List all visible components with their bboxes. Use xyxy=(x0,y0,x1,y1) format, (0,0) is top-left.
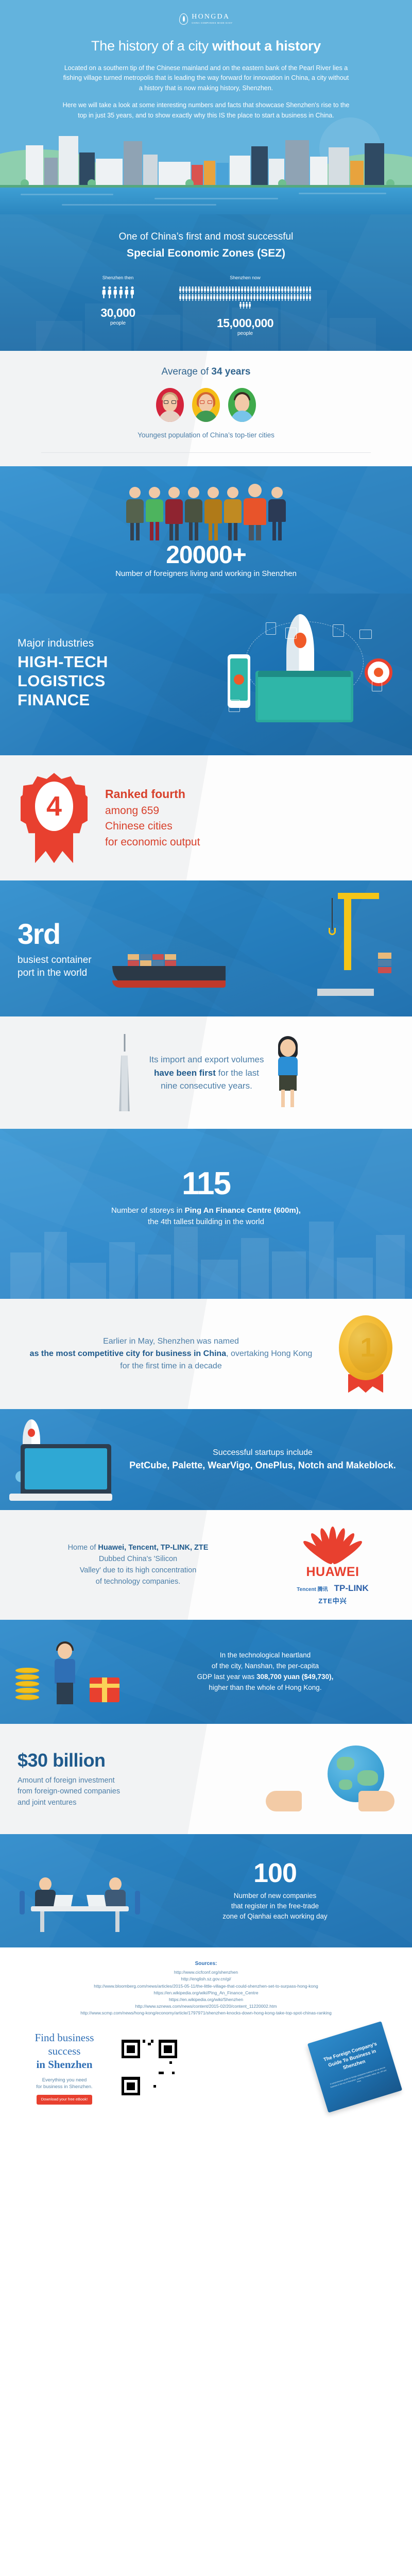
avatar xyxy=(156,388,184,422)
person-icon xyxy=(232,294,234,301)
competitive-text: Earlier in May, Shenzhen was named as th… xyxy=(18,1335,324,1372)
trade-section: Its import and export volumes have been … xyxy=(0,1016,412,1129)
person-icon xyxy=(232,286,234,294)
tech-bold: Huawei, Tencent, TP-LINK, ZTE xyxy=(98,1544,208,1552)
person-icon xyxy=(256,286,259,294)
person-icon xyxy=(235,286,237,294)
companies-caption-1: Number of new companies xyxy=(153,1891,397,1901)
title-bold: without a history xyxy=(212,38,321,54)
person-icon xyxy=(219,294,222,301)
investment-caption-3: and joint ventures xyxy=(18,1798,252,1809)
person-icon xyxy=(192,286,194,294)
sez-heading-light: One of China’s first and most successful xyxy=(119,231,294,242)
rank-line-1: Ranked fourth xyxy=(105,786,200,803)
person-icon xyxy=(303,294,305,301)
storeys-caption-post: the 4th tallest building in the world xyxy=(148,1217,264,1226)
person-icon xyxy=(210,286,213,294)
ebook-cover-image: The Foreign Company's Guide To Business … xyxy=(185,2029,397,2106)
person-figure xyxy=(243,484,267,540)
gift-box-icon xyxy=(90,1677,119,1702)
hongda-logo: HONGDA CHINA COMPANIES MADE EASY xyxy=(0,13,412,25)
gdp-line-1: In the technological heartland xyxy=(220,1651,311,1659)
container xyxy=(165,960,176,966)
person-icon xyxy=(243,302,245,309)
competitive-section: Earlier in May, Shenzhen was named as th… xyxy=(0,1299,412,1409)
person-figure xyxy=(145,487,164,540)
person-figure xyxy=(204,487,222,540)
industry-item-0: HIGH-TECH xyxy=(18,653,108,672)
person-icon xyxy=(309,294,312,301)
person-icon xyxy=(222,294,225,301)
cta-sub-2: for business in Shenzhen. xyxy=(15,2083,113,2091)
person-icon xyxy=(272,294,274,301)
rank-badge-number: 4 xyxy=(46,792,62,820)
port-illustration xyxy=(92,898,394,1001)
competitive-bold: as the most competitive city for busines… xyxy=(30,1349,226,1358)
person-icon xyxy=(216,294,219,301)
person-icon xyxy=(226,286,228,294)
person-icon xyxy=(246,302,248,309)
storeys-caption: Number of storeys in Ping An Finance Cen… xyxy=(0,1205,412,1228)
industry-item-1: LOGISTICS xyxy=(18,672,108,691)
person-icon xyxy=(182,294,185,301)
person-icon xyxy=(179,294,182,301)
source-url[interactable]: http://english.sz.gov.cn/gi/ xyxy=(6,1976,406,1982)
tencent-logo: Tencent 腾讯 xyxy=(297,1585,328,1592)
person-icon xyxy=(244,286,247,294)
companies-text: 100 Number of new companies that registe… xyxy=(153,1860,397,1922)
companies-caption-3: zone of Qianhai each working day xyxy=(153,1911,397,1922)
gdp-text: In the technological heartland of the ci… xyxy=(134,1650,397,1693)
person-icon xyxy=(118,286,123,299)
tech-pre: Home of xyxy=(68,1544,98,1552)
person-icon xyxy=(284,294,287,301)
section-divider xyxy=(41,452,371,453)
tech-illustration xyxy=(225,609,394,738)
person-icon xyxy=(249,302,251,309)
person-icon xyxy=(207,294,210,301)
person-icon xyxy=(294,286,296,294)
person-icon xyxy=(250,286,253,294)
tech-companies-text: Home of Huawei, Tencent, TP-LINK, ZTE Du… xyxy=(18,1543,259,1587)
sez-heading-bold: Special Economic Zones (SEZ) xyxy=(0,246,412,261)
floppy-icon xyxy=(285,628,297,639)
person-icon xyxy=(101,286,106,299)
investment-caption-1: Amount of foreign investment xyxy=(18,1775,252,1787)
person-figure xyxy=(268,487,286,540)
qr-code[interactable] xyxy=(122,2040,177,2095)
container xyxy=(378,960,391,966)
crane-cable xyxy=(332,898,333,930)
person-icon xyxy=(222,286,225,294)
zte-logo: ZTE中兴 xyxy=(271,1596,394,1605)
person-icon xyxy=(229,286,231,294)
hero-paragraph-2: Here we will take a look at some interes… xyxy=(62,100,350,121)
chair-icon xyxy=(135,1891,140,1914)
person-icon xyxy=(241,294,244,301)
people-icons-now xyxy=(178,286,313,309)
container xyxy=(165,954,176,960)
competitive-line-2: , overtaking Hong Kong xyxy=(226,1349,312,1358)
person-icon xyxy=(290,294,293,301)
medal-number: 1 xyxy=(360,1334,375,1361)
container xyxy=(378,967,391,973)
source-url[interactable]: http://www.sznews.com/news/content/2015-… xyxy=(6,2003,406,2010)
avatar xyxy=(192,388,220,422)
cta-text: Find business success in Shenzhen Everyt… xyxy=(15,2031,113,2105)
rosette-badge-icon: 4 xyxy=(21,773,88,863)
person-icon xyxy=(201,294,203,301)
foreigners-section: 20000+ Number of foreigners living and w… xyxy=(0,466,412,594)
person-icon xyxy=(287,286,290,294)
person-icon xyxy=(247,286,250,294)
lightbulb-icon xyxy=(266,622,276,635)
trade-line-1: Its import and export volumes xyxy=(149,1055,264,1064)
foreigners-caption: Number of foreigners living and working … xyxy=(0,569,412,578)
document-icon xyxy=(229,700,240,712)
startups-intro: Successful startups include xyxy=(129,1448,397,1458)
investment-value: $30 billion xyxy=(18,1750,252,1771)
avatar xyxy=(228,388,256,422)
tech-line-3: Valley' due to its high concentration xyxy=(80,1566,197,1574)
hero-section: HONGDA CHINA COMPANIES MADE EASY The his… xyxy=(0,0,412,214)
gdp-line-4: higher than the whole of Hong Kong. xyxy=(209,1684,321,1691)
competitive-line-3: for the first time in a decade xyxy=(120,1362,221,1370)
person-icon xyxy=(297,294,299,301)
person-icon xyxy=(201,286,203,294)
meeting-illustration xyxy=(15,1850,144,1932)
person-icon xyxy=(306,286,308,294)
container xyxy=(140,960,151,966)
title-light: The history of a city xyxy=(91,38,212,54)
person-icon xyxy=(303,286,305,294)
person-icon xyxy=(219,286,222,294)
person-icon xyxy=(192,294,194,301)
person-icon xyxy=(188,294,191,301)
source-url[interactable]: http://www.cicfconf.org/shenzhen xyxy=(6,1969,406,1976)
crane-arm xyxy=(338,893,379,899)
gdp-line-3-bold: 308,700 yuan ($49,730), xyxy=(256,1673,333,1681)
container xyxy=(128,954,139,960)
age-heading-bold: 34 years xyxy=(211,366,250,377)
flame-logo-icon xyxy=(179,13,188,25)
port-section: 3rd busiest container port in the world xyxy=(0,880,412,1016)
person-icon xyxy=(204,294,207,301)
tplink-logo: TP-LINK xyxy=(334,1583,369,1594)
person-icon xyxy=(213,294,216,301)
people-icons-then xyxy=(99,286,136,299)
huawei-flower-logo-icon xyxy=(299,1524,366,1563)
person-icon xyxy=(260,294,262,301)
person-icon xyxy=(216,286,219,294)
person-icon xyxy=(281,294,284,301)
sez-then-unit: people xyxy=(99,320,136,326)
crane-base xyxy=(317,989,374,996)
person-icon xyxy=(306,294,308,301)
sez-now-unit: people xyxy=(178,331,313,336)
person-icon xyxy=(297,286,299,294)
tech-companies-section: Home of Huawei, Tencent, TP-LINK, ZTE Du… xyxy=(0,1510,412,1620)
chat-icon xyxy=(359,630,372,639)
coin-stack-icon xyxy=(15,1668,39,1701)
person-icon xyxy=(260,286,262,294)
cta-section: Find business success in Shenzhen Everyt… xyxy=(0,2021,412,2124)
container xyxy=(378,953,391,959)
person-icon xyxy=(241,286,244,294)
person-icon xyxy=(275,294,278,301)
competitive-line-1: Earlier in May, Shenzhen was named xyxy=(103,1337,239,1346)
logo-tagline: CHINA COMPANIES MADE EASY xyxy=(192,22,232,24)
laptop-icon xyxy=(255,671,353,722)
average-age-section: Average of 34 years Youngest population xyxy=(0,351,412,466)
laptop-icon xyxy=(87,1895,106,1906)
person-icon xyxy=(300,294,302,301)
gdp-line-3-pre: GDP last year was xyxy=(197,1673,256,1681)
hero-paragraph-1: Located on a southern tip of the Chinese… xyxy=(62,63,350,93)
sez-then-label: Shenzhen then xyxy=(99,275,136,280)
desk-icon xyxy=(31,1906,129,1911)
person-icon xyxy=(130,286,134,299)
sez-now-label: Shenzhen now xyxy=(178,275,313,280)
person-icon xyxy=(238,294,241,301)
sez-now-column: Shenzhen now 15,000,000 people xyxy=(178,275,313,336)
person-icon xyxy=(198,286,200,294)
gdp-illustration xyxy=(15,1633,124,1710)
cta-line-2: success xyxy=(15,2044,113,2058)
startup-illustration xyxy=(15,1423,118,1496)
container xyxy=(140,954,151,960)
person-icon xyxy=(263,286,265,294)
person-icon xyxy=(284,286,287,294)
person-icon xyxy=(113,286,117,299)
globe-hands-illustration xyxy=(266,1740,394,1818)
person-icon xyxy=(263,294,265,301)
companies-caption-2: that register in the free-trade xyxy=(153,1901,397,1911)
storeys-caption-bold: Ping An Finance Centre (600m), xyxy=(185,1206,301,1215)
person-icon xyxy=(253,286,256,294)
industries-section: Major industries HIGH-TECH LOGISTICS FIN… xyxy=(0,594,412,755)
rank-text: Ranked fourth among 659 Chinese cities f… xyxy=(105,786,200,850)
port-caption-2: port in the world xyxy=(18,967,92,980)
age-caption: Youngest population of China’s top-tier … xyxy=(0,431,412,439)
businessman-figure xyxy=(49,1643,80,1704)
cta-line-1: Find business xyxy=(15,2031,113,2044)
hand-icon xyxy=(358,1791,394,1811)
woman-illustration xyxy=(274,1034,302,1111)
source-url[interactable]: http://www.bloomberg.com/news/articles/2… xyxy=(6,1983,406,1990)
container xyxy=(152,960,164,966)
person-icon xyxy=(294,294,296,301)
crane-mast xyxy=(344,893,351,970)
tech-line-4: of technology companies. xyxy=(96,1578,180,1586)
companies-value: 100 xyxy=(153,1860,397,1887)
download-ebook-button[interactable]: Download your free eBook! xyxy=(37,2095,92,2105)
startups-text: Successful startups include PetCube, Pal… xyxy=(129,1448,397,1471)
storeys-section: 115 Number of storeys in Ping An Finance… xyxy=(0,1129,412,1299)
ship-hull-stripe xyxy=(112,980,226,988)
crowd-illustration xyxy=(0,479,412,540)
storeys-value: 115 xyxy=(0,1168,412,1200)
person-icon xyxy=(235,294,237,301)
person-icon xyxy=(287,294,290,301)
person-icon xyxy=(278,294,281,301)
sez-then-value: 30,000 xyxy=(99,306,136,320)
person-icon xyxy=(226,294,228,301)
cityscape-illustration xyxy=(0,128,412,214)
person-icon xyxy=(272,286,274,294)
person-icon xyxy=(195,286,197,294)
trade-text: Its import and export volumes have been … xyxy=(149,1053,264,1093)
person-figure xyxy=(126,487,144,540)
person-icon xyxy=(239,302,242,309)
person-icon xyxy=(107,286,112,299)
person-figure xyxy=(33,1877,57,1909)
cta-sub-1: Everything you need xyxy=(15,2077,113,2084)
person-icon xyxy=(250,294,253,301)
trade-line-2: for the last xyxy=(216,1068,259,1078)
foreigners-value: 20000+ xyxy=(0,543,412,568)
sez-now-value: 15,000,000 xyxy=(178,316,313,330)
source-url[interactable]: http://www.scmp.com/news/hong-kong/econo… xyxy=(6,2010,406,2016)
person-figure xyxy=(103,1877,127,1909)
laptop-icon xyxy=(21,1444,111,1494)
person-icon xyxy=(185,294,188,301)
industry-item-2: FINANCE xyxy=(18,691,108,710)
gold-medal-icon: 1 xyxy=(337,1315,394,1393)
person-icon xyxy=(247,294,250,301)
port-text: 3rd busiest container port in the world xyxy=(18,920,92,980)
person-icon xyxy=(124,286,129,299)
person-icon xyxy=(204,286,207,294)
cta-line-3: in Shenzhen xyxy=(36,2058,92,2071)
person-figure xyxy=(184,487,203,540)
container xyxy=(128,960,139,966)
company-logos: HUAWEI Tencent 腾讯 TP-LINK ZTE中兴 xyxy=(271,1524,394,1605)
rank-line-3: Chinese cities xyxy=(105,819,200,834)
gdp-line-2: of the city, Nanshan, the per-capita xyxy=(212,1662,319,1670)
person-icon xyxy=(290,286,293,294)
rank-section: 4 Ranked fourth among 659 Chinese cities… xyxy=(0,755,412,880)
logo-name: HONGDA xyxy=(192,13,232,21)
port-value: 3rd xyxy=(18,920,92,948)
person-icon xyxy=(281,286,284,294)
person-icon xyxy=(195,294,197,301)
age-heading-light: Average of xyxy=(162,366,212,377)
huawei-wordmark: HUAWEI xyxy=(271,1565,394,1580)
person-icon xyxy=(182,286,185,294)
trade-bold: have been first xyxy=(154,1068,216,1078)
startups-names: PetCube, Palette, WearVigo, OnePlus, Not… xyxy=(129,1459,397,1471)
avatar-group xyxy=(0,388,412,422)
person-icon xyxy=(188,286,191,294)
person-icon xyxy=(185,286,188,294)
person-icon xyxy=(266,286,268,294)
crane-hook-icon xyxy=(329,928,336,935)
sources-section: Sources: http://www.cicfconf.org/shenzhe… xyxy=(0,1947,412,2021)
rank-line-2: among 659 xyxy=(105,803,200,819)
investment-caption-2: from foreign-owned companies xyxy=(18,1786,252,1798)
industries-text: Major industries HIGH-TECH LOGISTICS FIN… xyxy=(18,637,108,709)
investment-section: $30 billion Amount of foreign investment… xyxy=(0,1724,412,1834)
person-icon xyxy=(198,294,200,301)
industries-label: Major industries xyxy=(18,637,108,650)
person-figure xyxy=(224,487,242,540)
person-figure xyxy=(165,487,183,540)
person-icon xyxy=(269,294,271,301)
sez-heading: One of China’s first and most successful… xyxy=(0,230,412,262)
person-icon xyxy=(266,294,268,301)
rank-line-4: for economic output xyxy=(105,835,200,850)
sources-heading: Sources: xyxy=(6,1961,406,1967)
sez-section: One of China’s first and most successful… xyxy=(0,214,412,351)
person-icon xyxy=(269,286,271,294)
skyscraper-illustration xyxy=(110,1034,139,1111)
person-icon xyxy=(300,286,302,294)
person-icon xyxy=(207,286,210,294)
star-icon xyxy=(372,681,382,691)
companies-section: 100 Number of new companies that registe… xyxy=(0,1834,412,1947)
person-icon xyxy=(179,286,182,294)
laptop-icon xyxy=(54,1895,73,1906)
hand-icon xyxy=(266,1791,302,1811)
investment-text: $30 billion Amount of foreign investment… xyxy=(18,1750,252,1809)
storeys-caption-pre: Number of storeys in xyxy=(111,1206,185,1215)
sez-then-column: Shenzhen then 30,000 people xyxy=(99,275,136,336)
source-url[interactable]: https://en.wikipedia.org/wiki/Shenzhen xyxy=(6,1996,406,2003)
tech-line-2: Dubbed China's 'Silicon xyxy=(99,1555,177,1563)
id-card-icon xyxy=(333,624,344,637)
person-icon xyxy=(213,286,216,294)
gdp-section: In the technological heartland of the ci… xyxy=(0,1620,412,1724)
startups-section: Successful startups include PetCube, Pal… xyxy=(0,1409,412,1510)
age-heading: Average of 34 years xyxy=(0,366,412,378)
person-icon xyxy=(244,294,247,301)
sez-comparison: Shenzhen then 30,000 people Shenzhen now… xyxy=(0,275,412,336)
person-icon xyxy=(275,286,278,294)
person-icon xyxy=(238,286,241,294)
infographic-page: HONGDA CHINA COMPANIES MADE EASY The his… xyxy=(0,0,412,2124)
person-icon xyxy=(278,286,281,294)
person-icon xyxy=(309,286,312,294)
source-url[interactable]: https://en.wikipedia.org/wiki/Ping_An_Fi… xyxy=(6,1990,406,1996)
trade-line-3: nine consecutive years. xyxy=(161,1081,252,1091)
person-icon xyxy=(253,294,256,301)
person-icon xyxy=(210,294,213,301)
container xyxy=(152,954,164,960)
person-icon xyxy=(229,294,231,301)
port-caption-1: busiest container xyxy=(18,954,92,967)
chair-icon xyxy=(20,1891,25,1914)
person-icon xyxy=(256,294,259,301)
page-title: The history of a city without a history xyxy=(0,38,412,54)
